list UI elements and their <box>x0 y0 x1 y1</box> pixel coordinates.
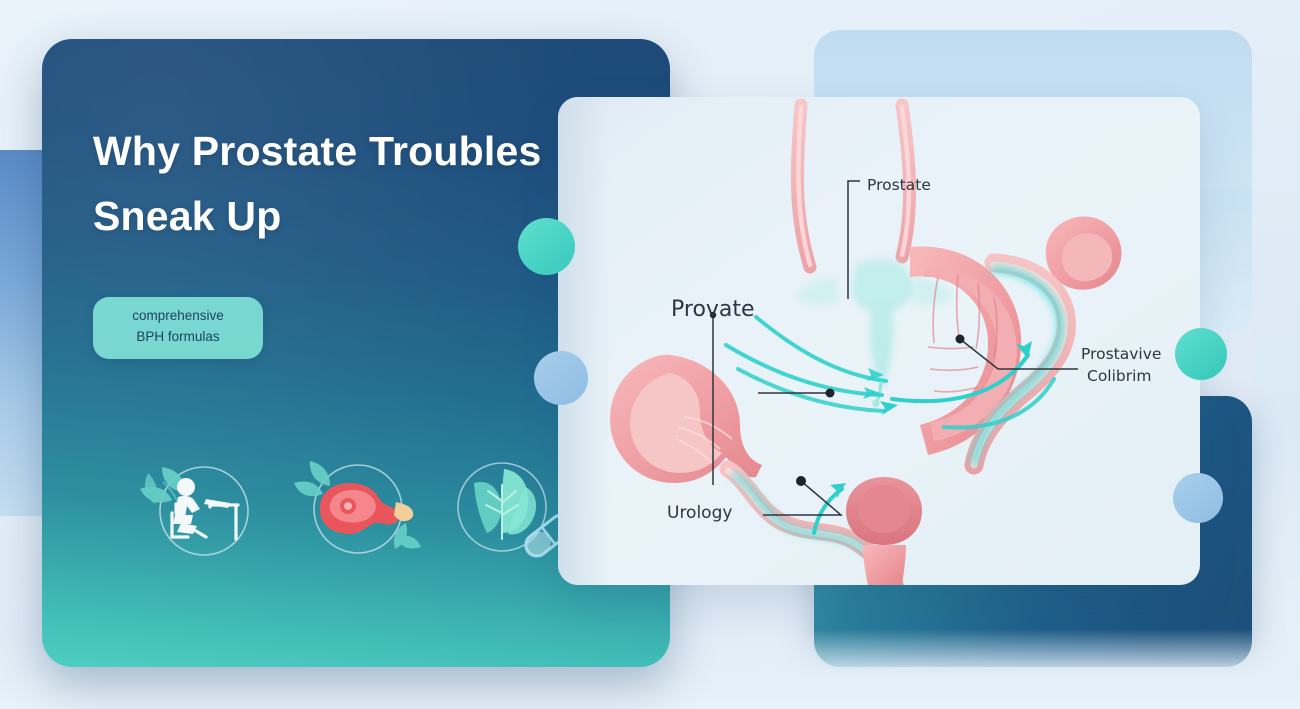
anatomy-illustration <box>558 97 1200 585</box>
annotation-urology: Urology <box>667 503 732 523</box>
colon-shape <box>910 216 1121 455</box>
background-right-strip <box>1252 0 1300 709</box>
status-badge-line2: BPH formulas <box>103 327 253 348</box>
red-meat-icon <box>278 439 438 579</box>
annotation-prostavive: Prostavive Colibrim <box>1081 343 1161 387</box>
spinach-leaves-glyph <box>474 469 536 539</box>
annotation-prostate: Prostate <box>867 176 931 194</box>
bladder-shape <box>610 355 762 483</box>
icon-row <box>82 434 632 584</box>
sedentary-desk-icon <box>118 439 278 579</box>
decorative-circle-blue-left <box>534 351 588 405</box>
slide-canvas: Why Prostate Troubles Sneak Up comprehen… <box>0 0 1300 709</box>
annotation-prostavive-line1: Prostavive <box>1081 343 1161 365</box>
decorative-circle-blue-right <box>1173 473 1223 523</box>
status-badge: comprehensive BPH formulas <box>93 297 263 359</box>
gland-shape <box>796 259 954 390</box>
decorative-circle-teal-right <box>1175 328 1227 380</box>
icon-sedentary-desk <box>118 439 278 579</box>
icon-red-meat <box>278 439 438 579</box>
annotation-provate: Provate <box>671 297 755 322</box>
page-title-line1: Why Prostate Troubles <box>93 128 541 174</box>
background-left-accent-block <box>0 150 47 516</box>
status-badge-line1: comprehensive <box>103 306 253 327</box>
decorative-circle-teal-left <box>518 218 575 275</box>
illustration-card <box>558 97 1200 585</box>
annotation-prostavive-line2: Colibrim <box>1081 365 1161 387</box>
flow-arrows <box>726 317 886 411</box>
lower-bulb-shape <box>846 477 922 585</box>
